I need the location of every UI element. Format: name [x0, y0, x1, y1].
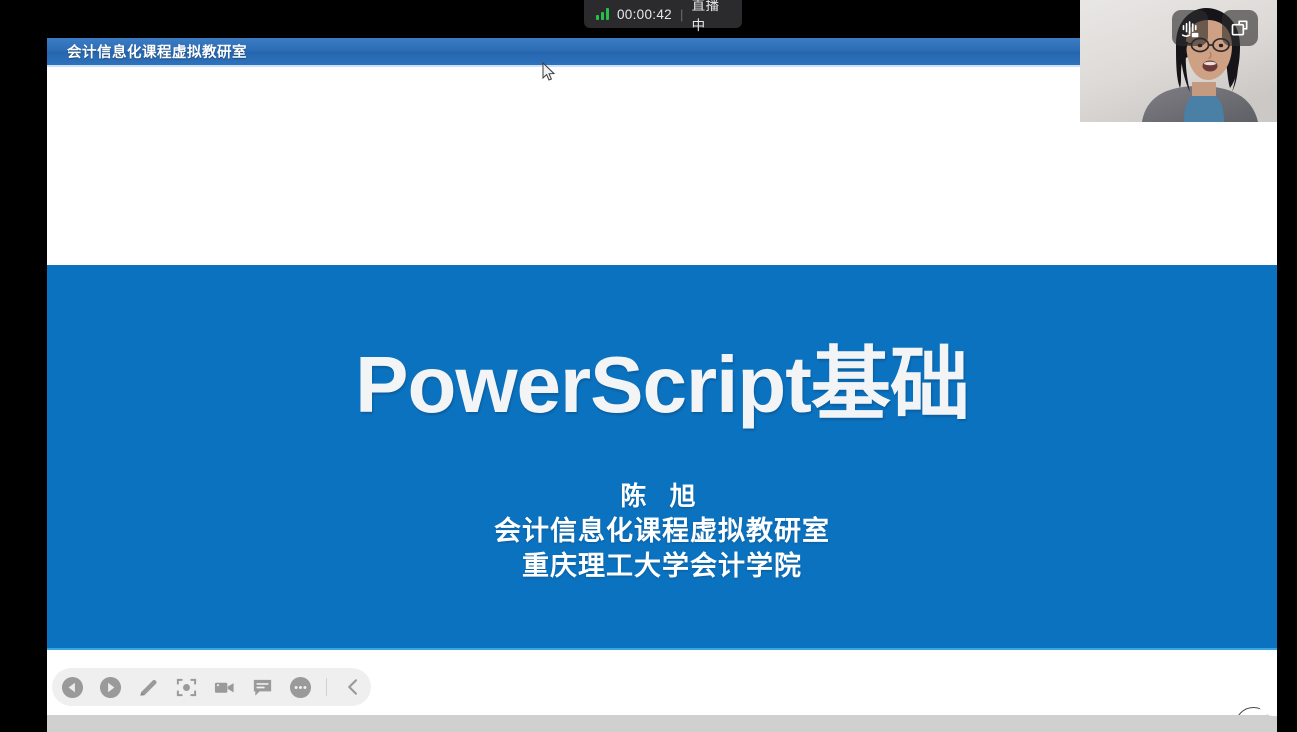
laser-pointer-button[interactable] [174, 675, 199, 700]
pill-separator: | [680, 7, 684, 22]
toolbar-divider [326, 678, 327, 696]
slide-content: PowerScript基础 陈 旭 会计信息化课程虚拟教研室 重庆理工大学会计学… [47, 265, 1277, 650]
chat-bubble-icon [251, 676, 274, 699]
previous-slide-button[interactable] [60, 675, 85, 700]
mouse-pointer-icon [542, 62, 556, 82]
popout-window-button[interactable] [1222, 10, 1258, 46]
pencil-icon [137, 676, 160, 699]
collapse-toolbar-button[interactable] [340, 675, 365, 700]
live-label: 直播中 [692, 0, 730, 34]
record-button[interactable] [212, 675, 237, 700]
video-camera-icon [213, 676, 236, 699]
slide-heading: PowerScript基础 [355, 345, 969, 425]
previous-circle-icon [61, 676, 84, 699]
document-footer-strip [47, 715, 1277, 732]
document-title: 会计信息化课程虚拟教研室 [47, 41, 247, 62]
slide-subtitle-line-author: 陈 旭 [494, 479, 830, 514]
slide-subtitle-line-school: 重庆理工大学会计学院 [494, 549, 830, 585]
document-body: PowerScript基础 陈 旭 会计信息化课程虚拟教研室 重庆理工大学会计学… [47, 69, 1277, 732]
live-status-pill[interactable]: 00:00:42 | 直播中 [584, 0, 742, 28]
popout-window-icon [1230, 18, 1250, 38]
more-options-button[interactable] [288, 675, 313, 700]
chat-button[interactable] [250, 675, 275, 700]
focus-target-icon [175, 676, 198, 699]
next-slide-button[interactable] [98, 675, 123, 700]
annotate-button[interactable] [136, 675, 161, 700]
presentation-toolbar [52, 668, 371, 706]
webcam-controls [1172, 10, 1258, 46]
elapsed-time: 00:00:42 [617, 7, 672, 22]
microphone-waveform-icon [1180, 18, 1201, 39]
chevron-left-icon [343, 677, 363, 697]
ellipsis-circle-icon [289, 676, 312, 699]
shared-document-window: 会计信息化课程虚拟教研室 PowerScript基础 陈 旭 会计信息化课程虚拟… [47, 38, 1277, 732]
screen-root: 00:00:42 | 直播中 会计信息化课程虚拟教研室 PowerScript基… [0, 0, 1297, 732]
next-circle-icon [99, 676, 122, 699]
slide-subtitle-line-org: 会计信息化课程虚拟教研室 [494, 514, 830, 550]
slide-subtitle-block: 陈 旭 会计信息化课程虚拟教研室 重庆理工大学会计学院 [494, 479, 830, 585]
signal-bars-icon [596, 8, 609, 20]
webcam-overlay[interactable] [1080, 0, 1277, 122]
audio-settings-button[interactable] [1172, 10, 1208, 46]
